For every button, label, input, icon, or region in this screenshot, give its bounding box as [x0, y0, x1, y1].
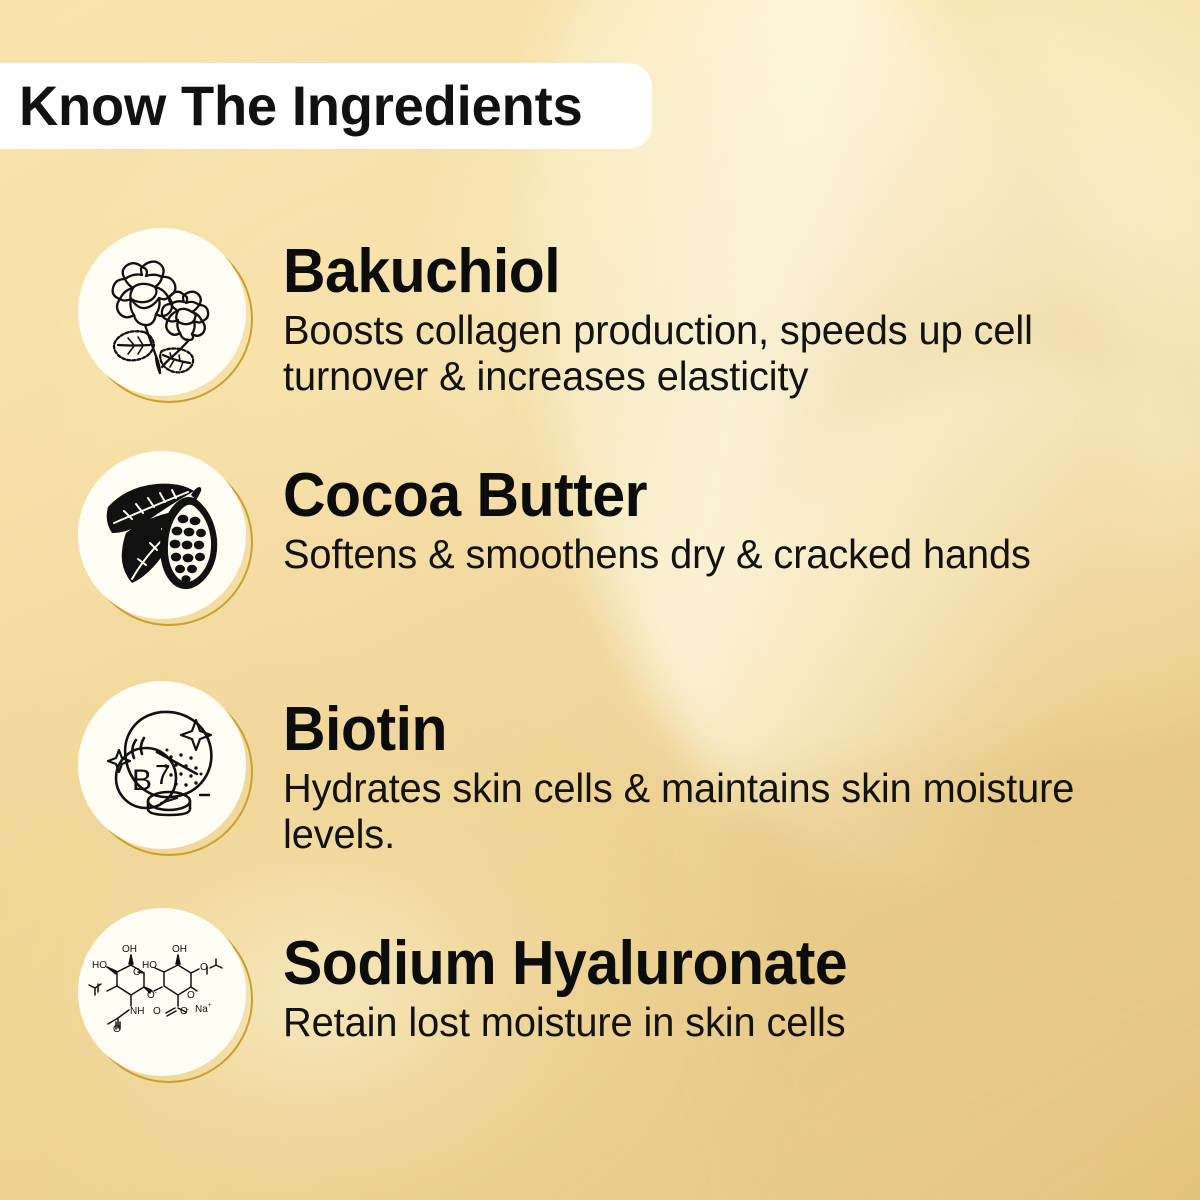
ingredient-name: Cocoa Butter: [283, 466, 1100, 527]
svg-text:HO: HO: [92, 960, 107, 971]
ingredient-text-column: Biotin Hydrates skin cells & maintains s…: [283, 700, 1143, 858]
cocoa-pod-icon: [78, 451, 246, 619]
svg-text:Na: Na: [195, 1004, 208, 1015]
flower-outline-icon: [78, 228, 246, 396]
ingredient-description: Boosts collagen production, speeds up ce…: [283, 307, 1088, 400]
vitamin-capsule-b7-icon: B 7: [78, 681, 246, 849]
svg-text:NH: NH: [130, 1006, 144, 1017]
ingredient-description: Hydrates skin cells & maintains skin moi…: [283, 765, 1088, 858]
svg-text:-: -: [187, 1007, 189, 1013]
svg-text:O: O: [153, 1006, 161, 1017]
ingredient-list: Bakuchiol Boosts collagen production, sp…: [0, 0, 1200, 1200]
ingredient-name: Sodium Hyaluronate: [283, 934, 1100, 995]
svg-text:OH: OH: [122, 944, 137, 955]
ingredient-icon-container: OH OH HO HO O O O O NH O O Na O: [78, 908, 254, 1084]
ingredients-infographic: Know The Ingredients: [0, 0, 1200, 1200]
molecule-structure-icon: OH OH HO HO O O O O NH O O Na O: [78, 908, 246, 1076]
ingredient-name: Biotin: [283, 700, 1100, 761]
svg-text:OH: OH: [172, 944, 187, 955]
svg-text:B: B: [132, 764, 152, 797]
ingredient-name: Bakuchiol: [283, 242, 1100, 303]
ingredient-text-column: Bakuchiol Boosts collagen production, sp…: [283, 242, 1143, 400]
ingredient-icon-container: B 7: [78, 681, 254, 857]
svg-text:HO: HO: [142, 960, 157, 971]
ingredient-icon-container: [78, 451, 254, 627]
svg-text:+: +: [208, 1003, 212, 1009]
ingredient-text-column: Cocoa Butter Softens & smoothens dry & c…: [283, 466, 1143, 577]
ingredient-icon-container: [78, 228, 254, 404]
ingredient-description: Softens & smoothens dry & cracked hands: [283, 531, 1088, 578]
svg-text:7: 7: [155, 759, 171, 790]
ingredient-text-column: Sodium Hyaluronate Retain lost moisture …: [283, 934, 1143, 1045]
svg-text:O: O: [187, 990, 195, 1001]
ingredient-description: Retain lost moisture in skin cells: [283, 999, 1088, 1046]
